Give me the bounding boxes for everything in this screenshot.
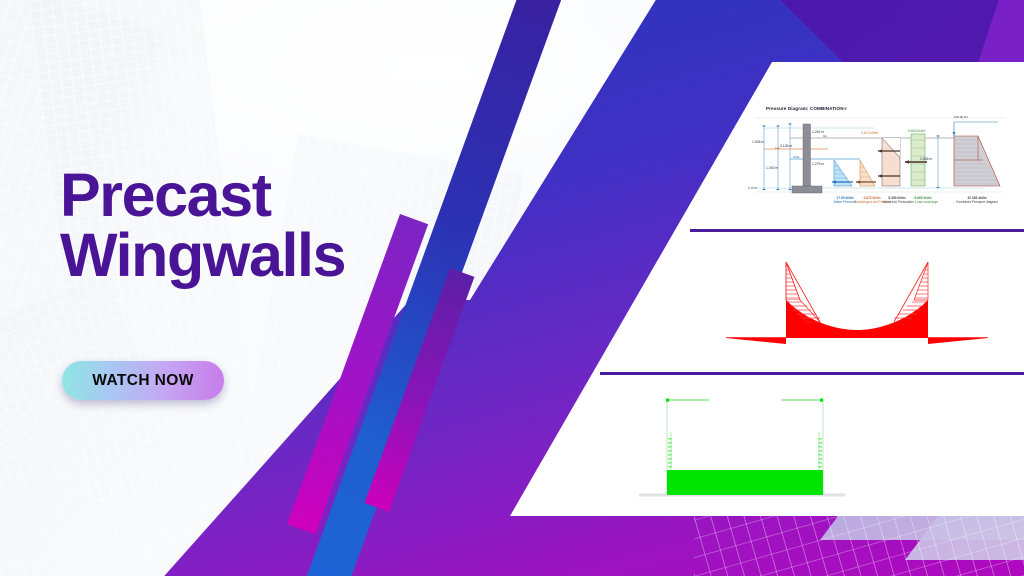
headline-line-1: Precast xyxy=(60,165,490,225)
headline-line-2: Wingwalls xyxy=(60,225,490,285)
pressure-diagram-graphic xyxy=(748,104,1014,222)
value-liveload-inline: 6.663 kN/m xyxy=(908,129,925,133)
dim-3: 1.000 m xyxy=(766,166,778,170)
page-title: Precast Wingwalls xyxy=(60,165,490,286)
dim-5: 1.275 m xyxy=(812,162,824,166)
dim-7: 2.536 m xyxy=(920,157,932,161)
legend-combined: 37.381 kN/m Combined Pressure diagram xyxy=(954,196,1000,204)
legend-liveload: 6.663 kN/m Live Load surcharge xyxy=(906,196,940,204)
marker-gl: GL xyxy=(823,134,827,138)
watch-now-button[interactable]: WATCH NOW xyxy=(62,361,224,400)
top-right-load-value: 100.00 kN xyxy=(954,115,968,119)
marker-fgl: FGL xyxy=(775,146,781,150)
structural-section-diagram xyxy=(625,382,1024,512)
value-submerged-inline: 4.673 kN/m xyxy=(861,131,878,135)
dim-2: 3.136 m xyxy=(780,144,792,148)
panel-divider-1 xyxy=(690,229,1024,232)
pressure-diagram: Pressure Diagram: COMBINATION-I xyxy=(748,104,1014,222)
dim-1: 1.536 m xyxy=(752,140,764,144)
bending-moment-diagram xyxy=(690,238,1024,368)
marker-gwl: GWL xyxy=(793,155,800,159)
section-graphic xyxy=(625,382,1024,512)
bending-moment-graphic xyxy=(690,238,1024,368)
slide-canvas: Pressure Diagram: COMBINATION-I xyxy=(0,0,1024,576)
panel-divider-2 xyxy=(600,372,1024,375)
dim-6: 1.4 m xyxy=(748,186,756,190)
